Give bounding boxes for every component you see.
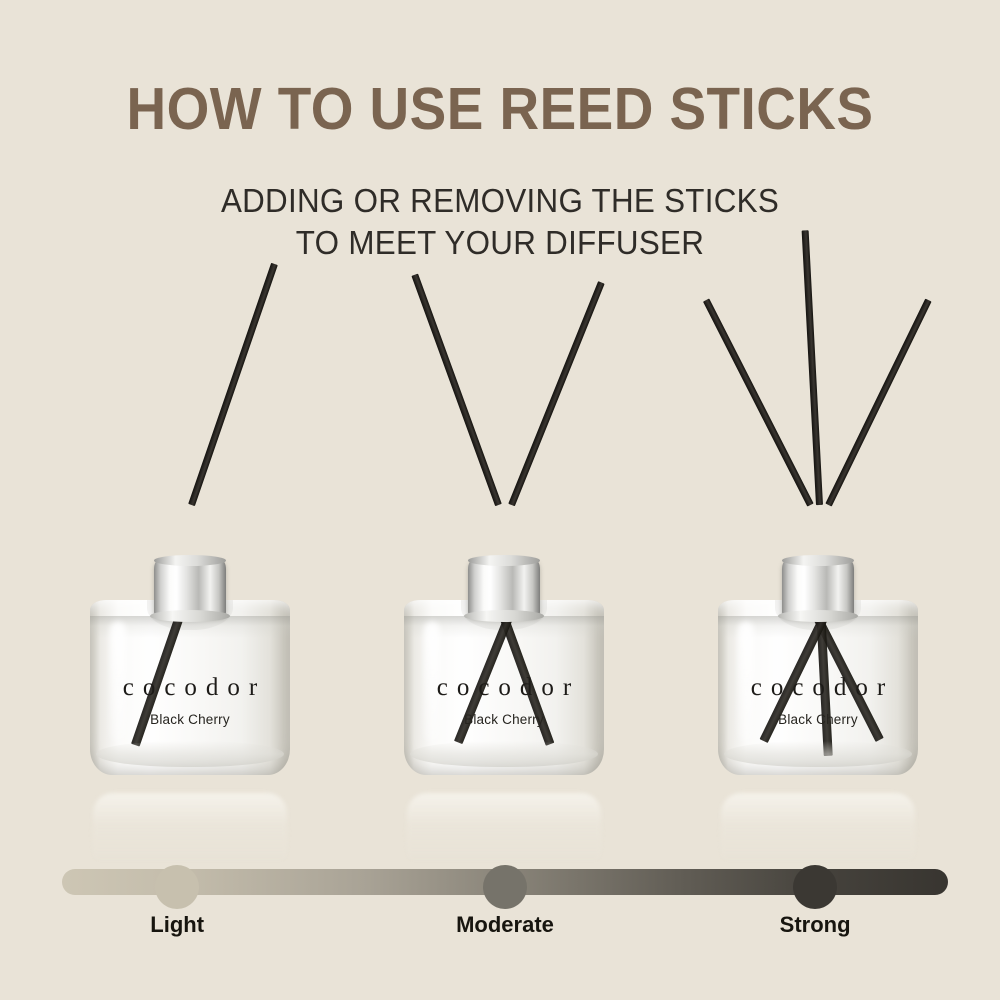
intensity-marker-moderate[interactable]: [483, 865, 527, 909]
reed-stick-outer: [703, 298, 814, 506]
reed-stick-outer: [411, 274, 501, 507]
reed-stick-outer: [508, 281, 604, 506]
glass-bottom-curve: [96, 741, 284, 767]
bottle-reflection: [721, 793, 915, 863]
intensity-label-moderate: Moderate: [456, 912, 554, 938]
cap-base-ellipse: [150, 610, 230, 622]
intensity-label-row: LightModerateStrong: [0, 912, 1000, 952]
reed-stick-outer: [802, 230, 823, 505]
intensity-scale: LightModerateStrong: [0, 860, 1000, 980]
brand-label: cocodor: [90, 674, 290, 702]
cap-base-ellipse: [464, 610, 544, 622]
bottle-glass-body: cocodor Black Cherry: [90, 600, 290, 775]
bottle-glass-body: cocodor Black Cherry: [404, 600, 604, 775]
intensity-gradient-bar[interactable]: [62, 869, 948, 895]
variant-label: Black Cherry: [404, 712, 604, 727]
diffuser-bottle-strong: cocodor Black Cherry: [703, 285, 933, 805]
diffuser-bottle-light: cocodor Black Cherry: [75, 285, 305, 805]
bottle-glass-body: cocodor Black Cherry: [718, 600, 918, 775]
cap-top-ellipse: [154, 555, 226, 566]
intensity-marker-strong[interactable]: [793, 865, 837, 909]
variant-label: Black Cherry: [90, 712, 290, 727]
bottle-reflection: [407, 793, 601, 863]
glass-bottom-curve: [724, 741, 912, 767]
cap-top-ellipse: [468, 555, 540, 566]
cap-base-ellipse: [778, 610, 858, 622]
reed-stick-outer: [188, 263, 278, 506]
glass-bottom-curve: [410, 741, 598, 767]
diffuser-bottle-group: cocodor Black Cherry cocodor Black C: [0, 0, 1000, 1000]
brand-label: cocodor: [404, 674, 604, 702]
poster-canvas: HOW TO USE REED STICKS ADDING OR REMOVIN…: [0, 0, 1000, 1000]
bottle-cap: [154, 559, 226, 617]
cap-top-ellipse: [782, 555, 854, 566]
bottle-cap: [782, 559, 854, 617]
reed-stick-outer: [825, 299, 931, 507]
intensity-marker-light[interactable]: [155, 865, 199, 909]
variant-label: Black Cherry: [718, 712, 918, 727]
bottle-reflection: [93, 793, 287, 863]
diffuser-bottle-moderate: cocodor Black Cherry: [389, 285, 619, 805]
brand-label: cocodor: [718, 674, 918, 702]
intensity-label-light: Light: [150, 912, 204, 938]
intensity-label-strong: Strong: [780, 912, 851, 938]
bottle-cap: [468, 559, 540, 617]
